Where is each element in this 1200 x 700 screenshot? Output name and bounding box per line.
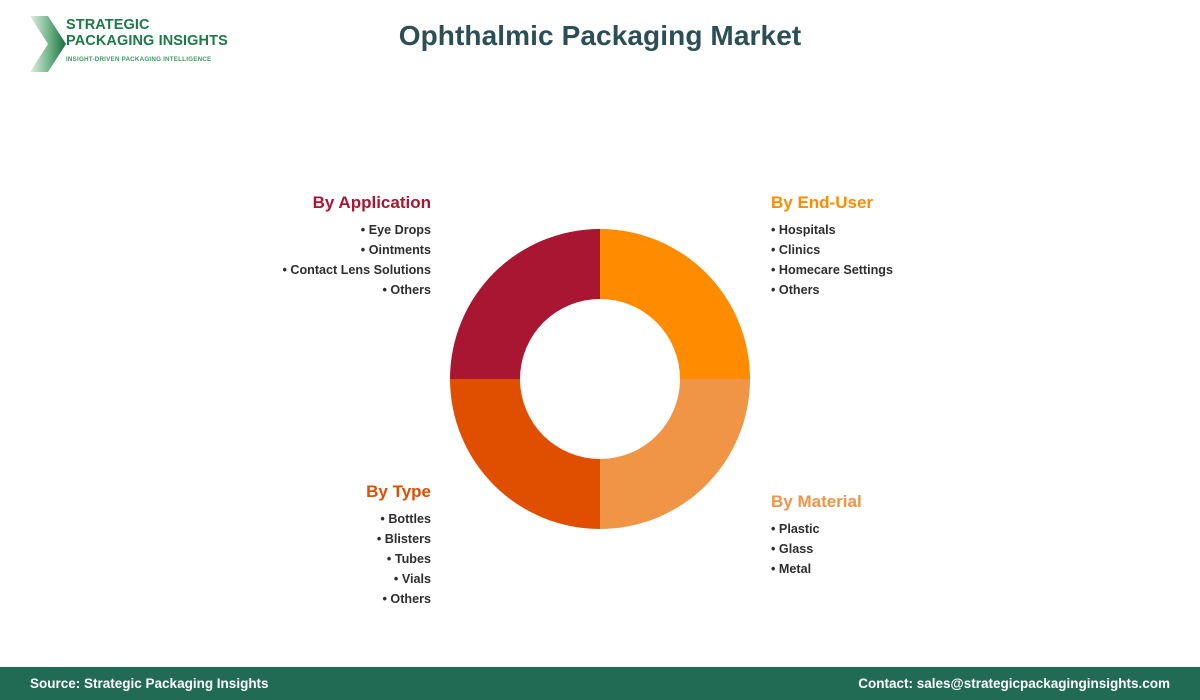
list-item: • Contact Lens Solutions	[200, 260, 431, 280]
list-item-label: Others	[390, 283, 431, 297]
bullet-icon: •	[771, 562, 775, 576]
segment-by-type: By Type • Bottles • Blisters • Tubes • V…	[200, 482, 431, 609]
footer-bar: Source: Strategic Packaging Insights Con…	[0, 667, 1200, 700]
list-item-label: Tubes	[395, 552, 431, 566]
list-item: • Hospitals	[771, 220, 1071, 240]
infographic-page: STRATEGIC PACKAGING INSIGHTS INSIGHT-DRI…	[0, 0, 1200, 700]
segment-title-enduser: By End-User	[771, 193, 1071, 213]
footer-source: Source: Strategic Packaging Insights	[30, 676, 269, 691]
list-item: • Bottles	[200, 509, 431, 529]
donut-slice-enduser[interactable]	[600, 229, 750, 379]
list-item-label: Homecare Settings	[779, 263, 893, 277]
list-item: • Blisters	[200, 529, 431, 549]
list-item: • Others	[200, 589, 431, 609]
list-item: • Clinics	[771, 240, 1071, 260]
bullet-icon: •	[282, 263, 286, 277]
brand-tagline: INSIGHT-DRIVEN PACKAGING INTELLIGENCE	[66, 56, 256, 63]
bullet-icon: •	[377, 532, 381, 546]
list-item: • Ointments	[200, 240, 431, 260]
segment-title-type: By Type	[200, 482, 431, 502]
bullet-icon: •	[771, 542, 775, 556]
segment-list-enduser: • Hospitals • Clinics • Homecare Setting…	[771, 220, 1071, 300]
bullet-icon: •	[771, 243, 775, 257]
bullet-icon: •	[771, 223, 775, 237]
bullet-icon: •	[382, 283, 386, 297]
footer-contact[interactable]: Contact: sales@strategicpackaginginsight…	[858, 676, 1170, 691]
list-item: • Tubes	[200, 549, 431, 569]
segment-list-application: • Eye Drops • Ointments • Contact Lens S…	[200, 220, 431, 300]
donut-slice-type[interactable]	[450, 379, 600, 529]
segment-by-material: By Material • Plastic • Glass • Metal	[771, 492, 1071, 579]
list-item: • Plastic	[771, 519, 1071, 539]
page-title: Ophthalmic Packaging Market	[0, 20, 1200, 52]
bullet-icon: •	[394, 572, 398, 586]
segment-by-enduser: By End-User • Hospitals • Clinics • Home…	[771, 193, 1071, 300]
bullet-icon: •	[771, 522, 775, 536]
segment-title-material: By Material	[771, 492, 1071, 512]
list-item-label: Others	[390, 592, 431, 606]
list-item-label: Glass	[779, 542, 813, 556]
donut-slice-application[interactable]	[450, 229, 600, 379]
list-item-label: Plastic	[779, 522, 820, 536]
list-item: • Eye Drops	[200, 220, 431, 240]
bullet-icon: •	[361, 223, 365, 237]
list-item-label: Ointments	[369, 243, 431, 257]
list-item-label: Contact Lens Solutions	[290, 263, 431, 277]
list-item-label: Metal	[779, 562, 811, 576]
segment-by-application: By Application • Eye Drops • Ointments •…	[200, 193, 431, 300]
donut-chart	[450, 229, 750, 529]
segment-list-type: • Bottles • Blisters • Tubes • Vials • O…	[200, 509, 431, 609]
list-item-label: Bottles	[388, 512, 431, 526]
list-item: • Homecare Settings	[771, 260, 1071, 280]
bullet-icon: •	[771, 263, 775, 277]
list-item-label: Clinics	[779, 243, 820, 257]
list-item-label: Blisters	[385, 532, 431, 546]
list-item-label: Vials	[402, 572, 431, 586]
list-item-label: Hospitals	[779, 223, 836, 237]
segment-list-material: • Plastic • Glass • Metal	[771, 519, 1071, 579]
list-item: • Vials	[200, 569, 431, 589]
bullet-icon: •	[380, 512, 384, 526]
donut-slice-material[interactable]	[600, 379, 750, 529]
list-item: • Metal	[771, 559, 1071, 579]
list-item: • Others	[771, 280, 1071, 300]
bullet-icon: •	[387, 552, 391, 566]
bullet-icon: •	[771, 283, 775, 297]
segment-title-application: By Application	[200, 193, 431, 213]
list-item-label: Others	[779, 283, 820, 297]
list-item-label: Eye Drops	[369, 223, 431, 237]
bullet-icon: •	[382, 592, 386, 606]
list-item: • Glass	[771, 539, 1071, 559]
bullet-icon: •	[361, 243, 365, 257]
list-item: • Others	[200, 280, 431, 300]
